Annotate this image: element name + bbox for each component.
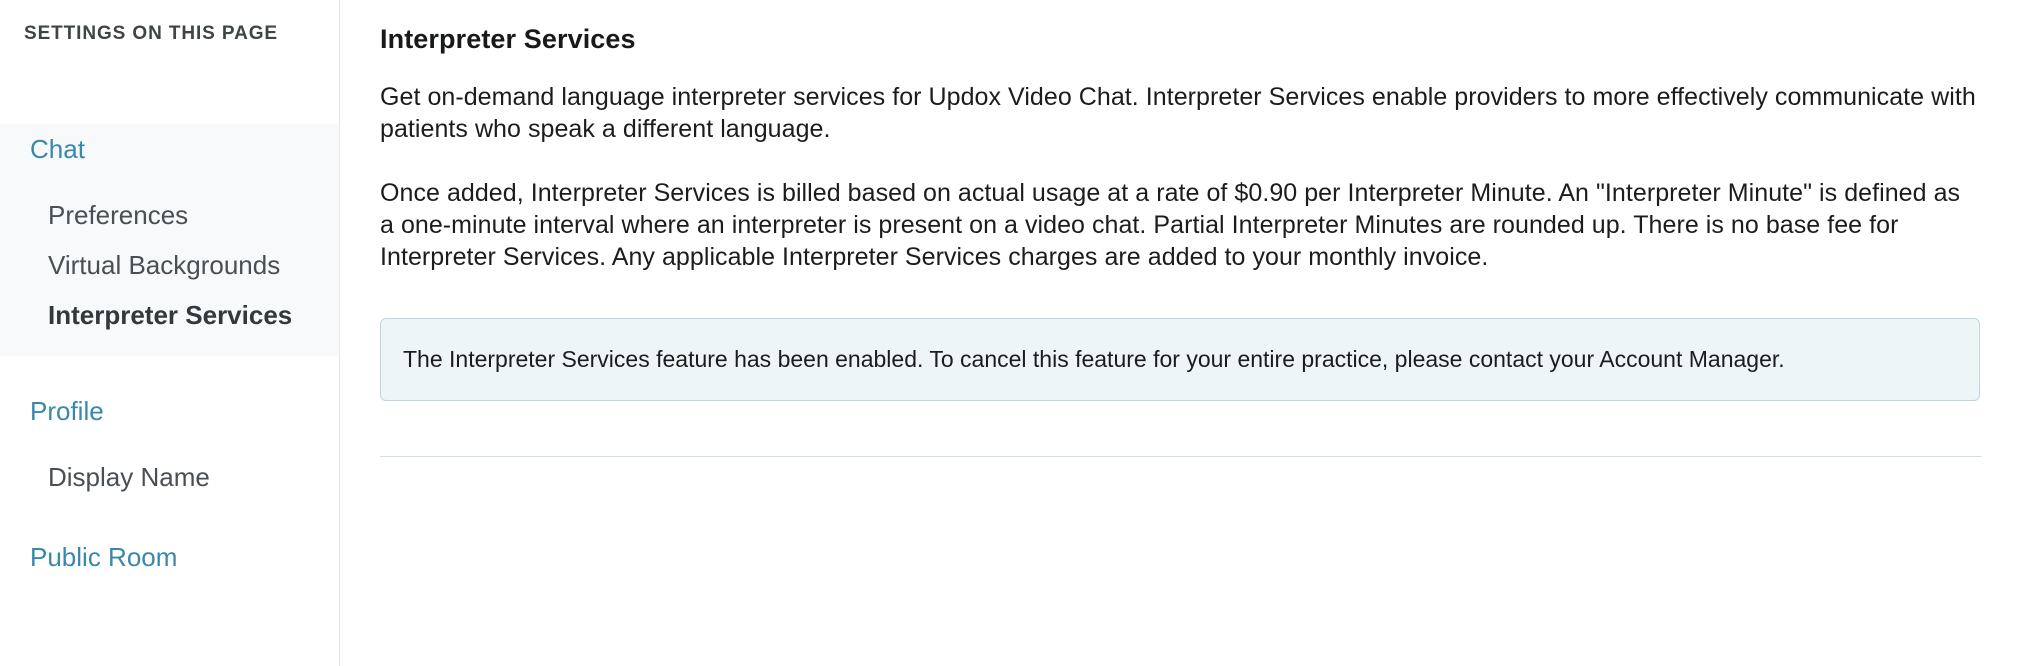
settings-sidebar: SETTINGS ON THIS PAGE Chat Preferences V…: [0, 0, 340, 666]
sidebar-group-spacer-profile-items: [0, 436, 339, 452]
sidebar-item-public-room[interactable]: Public Room: [0, 532, 339, 582]
sidebar-item-preferences[interactable]: Preferences: [0, 190, 339, 240]
sidebar-group-profile: Profile Display Name: [0, 356, 339, 502]
status-alert-box: The Interpreter Services feature has bee…: [380, 318, 1980, 401]
sidebar-group-chat: Chat Preferences Virtual Backgrounds Int…: [0, 124, 339, 356]
sidebar-group-spacer-bottom: [0, 340, 339, 356]
sidebar-spacer: [0, 46, 339, 124]
sidebar-group-spacer-public-room: [0, 502, 339, 532]
sidebar-item-profile[interactable]: Profile: [0, 386, 339, 436]
main-content: Interpreter Services Get on-demand langu…: [340, 0, 2022, 666]
section-divider: [380, 456, 1982, 457]
sidebar-item-virtual-backgrounds[interactable]: Virtual Backgrounds: [0, 240, 339, 290]
sidebar-item-interpreter-services[interactable]: Interpreter Services: [0, 290, 339, 340]
page-title: Interpreter Services: [380, 22, 1982, 56]
description-paragraph-2: Once added, Interpreter Services is bill…: [380, 177, 1980, 273]
settings-page: SETTINGS ON THIS PAGE Chat Preferences V…: [0, 0, 2022, 666]
sidebar-group-spacer: [0, 174, 339, 190]
sidebar-item-chat[interactable]: Chat: [0, 124, 339, 174]
sidebar-heading: SETTINGS ON THIS PAGE: [0, 0, 339, 46]
status-alert-message: The Interpreter Services feature has bee…: [403, 345, 1955, 374]
sidebar-group-spacer-profile: [0, 356, 339, 386]
sidebar-item-display-name[interactable]: Display Name: [0, 452, 339, 502]
description-paragraph-1: Get on-demand language interpreter servi…: [380, 81, 1980, 145]
sidebar-group-public-room: Public Room: [0, 502, 339, 582]
